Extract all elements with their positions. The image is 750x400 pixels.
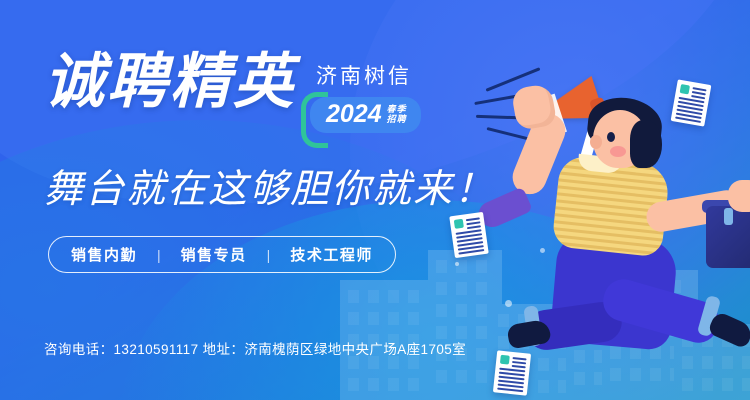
character-hair-side	[630, 120, 662, 168]
year-badge: 2024 春季 招聘	[310, 97, 421, 133]
character-eye	[607, 132, 615, 142]
page-title: 诚聘精英	[44, 52, 296, 112]
season-line-2: 招聘	[387, 115, 407, 124]
recruitment-banner: 诚聘精英 济南树信 2024 春季 招聘 舞台就在这够胆你就来！ 销售内勤 | …	[0, 0, 750, 400]
decor-dot	[455, 262, 459, 266]
year-label: 2024	[326, 102, 382, 127]
resume-text-line	[512, 357, 526, 360]
resume-avatar	[454, 219, 464, 229]
job-separator: |	[267, 247, 271, 263]
job-separator: |	[157, 247, 161, 263]
job-item-1[interactable]: 销售专员	[181, 244, 247, 265]
character-shoe-front	[707, 310, 750, 349]
company-name: 济南树信	[316, 66, 421, 87]
decor-dot	[540, 248, 545, 253]
job-item-0[interactable]: 销售内勤	[71, 244, 137, 265]
resume-paper-icon	[493, 350, 531, 395]
job-item-2[interactable]: 技术工程师	[290, 244, 373, 265]
briefcase-clasp-left	[724, 208, 733, 225]
character-ear	[590, 135, 602, 149]
resume-text-line	[497, 388, 523, 393]
resume-avatar	[680, 84, 690, 94]
banner-subtitle: 舞台就在这够胆你就来！	[44, 158, 495, 214]
contact-line: 咨询电话：13210591117 地址：济南槐荫区绿地中央广场A座1705室	[44, 338, 466, 358]
resume-text-line	[512, 365, 526, 368]
illustration	[470, 0, 750, 400]
resume-paper-icon	[671, 79, 712, 126]
resume-text-line	[512, 361, 526, 364]
job-positions-pill: 销售内勤 | 销售专员 | 技术工程师	[48, 236, 396, 273]
resume-paper-icon	[449, 212, 489, 258]
season-label: 春季 招聘	[387, 105, 407, 124]
headline-row: 诚聘精英 济南树信 2024 春季 招聘	[44, 52, 421, 133]
resume-avatar	[500, 355, 510, 365]
character-cheek	[610, 146, 626, 157]
brand-stack: 济南树信 2024 春季 招聘	[310, 52, 421, 133]
decor-dot	[505, 300, 512, 307]
character-hand-right	[728, 180, 750, 212]
